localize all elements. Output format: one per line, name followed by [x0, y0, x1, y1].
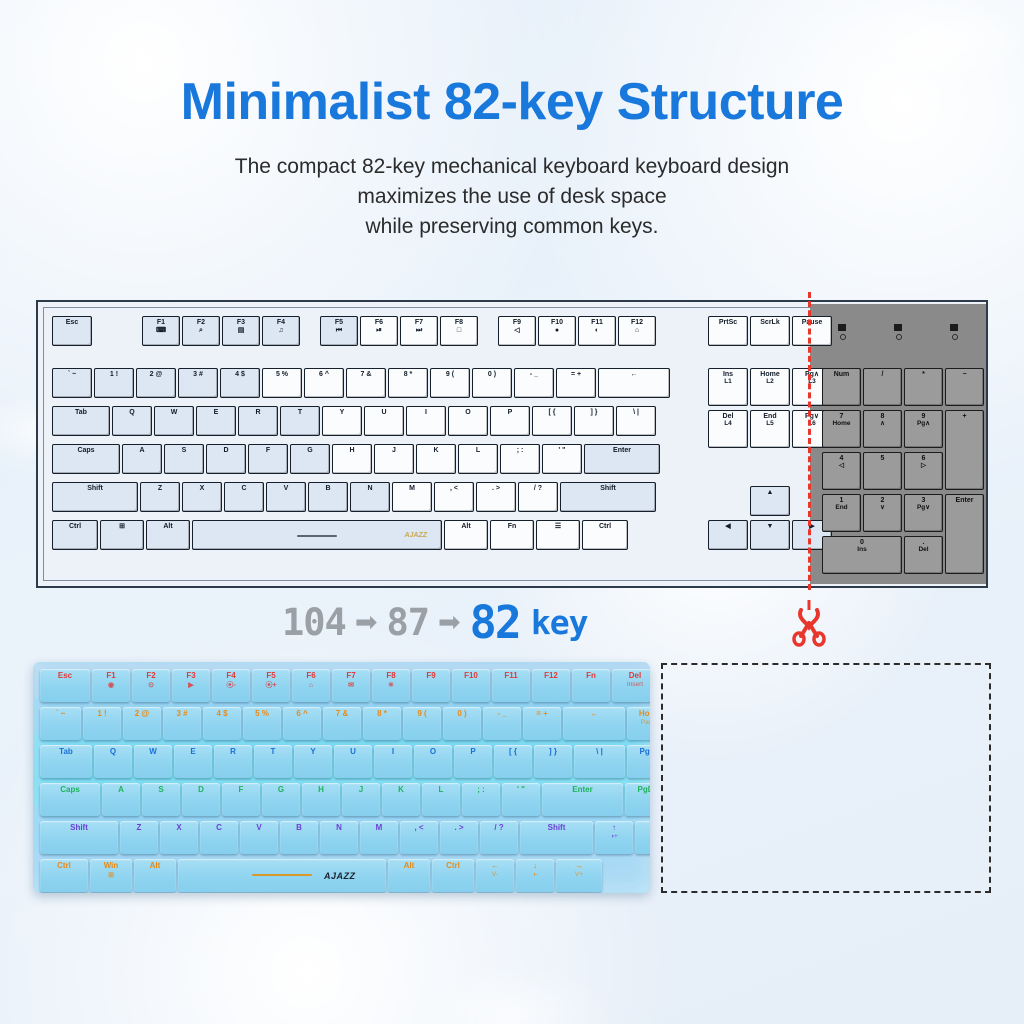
key-: ⊞ — [100, 520, 144, 550]
key-f: F — [248, 444, 288, 474]
key-2: 2∨ — [863, 494, 902, 532]
key-space: / ? — [480, 821, 518, 854]
key-g: G — [262, 783, 300, 816]
key-a: A — [122, 444, 162, 474]
key-s: S — [164, 444, 204, 474]
key-f4: F4♫ — [262, 316, 300, 346]
key-space: \ | — [574, 745, 625, 778]
key-: ' " — [542, 444, 582, 474]
key-2: 2 @ — [123, 707, 161, 740]
key-b: B — [308, 482, 348, 512]
key-space: - _ — [483, 707, 521, 740]
key-2: 2 @ — [136, 368, 176, 398]
key-fn: Fn — [490, 520, 534, 550]
key-q: Q — [94, 745, 132, 778]
key-q: Q — [112, 406, 152, 436]
key-enter: Enter — [542, 783, 623, 816]
key-f11: F11◐ — [578, 316, 616, 346]
key-t: T — [280, 406, 320, 436]
key-1: 1End — [822, 494, 861, 532]
key-8: 8 * — [363, 707, 401, 740]
key-j: J — [342, 783, 380, 816]
key-k: K — [416, 444, 456, 474]
key-0: 0Ins — [822, 536, 902, 574]
key-caps: Caps — [40, 783, 100, 816]
key-f8: F8□ — [440, 316, 478, 346]
key-space: ] } — [534, 745, 572, 778]
key-esc: Esc — [40, 669, 90, 702]
key-f12: F12⌂ — [618, 316, 656, 346]
key-v: V — [266, 482, 306, 512]
key-ctrl: Ctrl — [432, 859, 474, 892]
key-alt: Alt — [388, 859, 430, 892]
page-subtitle: The compact 82-key mechanical keyboard k… — [0, 152, 1024, 241]
key-r: R — [238, 406, 278, 436]
key-i: I — [406, 406, 446, 436]
key-home: HomeL2 — [750, 368, 790, 406]
key-ctrl: Ctrl — [52, 520, 98, 550]
key-: ; : — [500, 444, 540, 474]
scroll-lock-led — [950, 324, 958, 331]
key-alt: Alt — [444, 520, 488, 550]
key-: ` ~ — [52, 368, 92, 398]
key-: − — [945, 368, 984, 406]
key-tab: Tab — [52, 406, 110, 436]
key-4: 4◁ — [822, 452, 861, 490]
key-0: 0 ) — [472, 368, 512, 398]
subtitle-line-2: maximizes the use of desk space — [0, 182, 1024, 212]
key-x: X — [160, 821, 198, 854]
key-5: 5 % — [262, 368, 302, 398]
key-o: O — [414, 745, 452, 778]
key-n: N — [320, 821, 358, 854]
scissors-icon — [786, 596, 832, 648]
key-6: 6 ^ — [304, 368, 344, 398]
key-c: C — [224, 482, 264, 512]
key-: / — [863, 368, 902, 406]
key-7: 7Home — [822, 410, 861, 448]
arrow-2-icon: ➡ — [438, 609, 461, 636]
key-h: H — [332, 444, 372, 474]
blue-rgb-keyboard: EscF1◉F2⊙F3▶F4⦿-F5⦿+F6⌂F7✉F8☀F9F10F11F12… — [33, 662, 650, 893]
key-f7: F7✉ — [332, 669, 370, 702]
removed-numpad-placeholder — [661, 663, 991, 893]
arrow-1-icon: ➡ — [355, 609, 378, 636]
caps-lock-led — [894, 324, 902, 331]
cut-line — [808, 292, 811, 590]
key-del: DelL4 — [708, 410, 748, 448]
key-f11: F11 — [492, 669, 530, 702]
key-: .Del — [904, 536, 943, 574]
key-space: = + — [523, 707, 561, 740]
key-e: E — [196, 406, 236, 436]
key-enter: Enter — [945, 494, 984, 574]
key-shift: Shift — [40, 821, 118, 854]
key-k: K — [382, 783, 420, 816]
key-u: U — [364, 406, 404, 436]
key-f: F — [222, 783, 260, 816]
key-m: M — [392, 482, 432, 512]
key-scrlk: ScrLk — [750, 316, 790, 346]
key-t: T — [254, 745, 292, 778]
key-f6: F6⏯ — [360, 316, 398, 346]
key-u: U — [334, 745, 372, 778]
key-: , < — [434, 482, 474, 512]
key-: ] } — [574, 406, 614, 436]
key-3: 3Pg∨ — [904, 494, 943, 532]
key-caps: Caps — [52, 444, 120, 474]
key-ctrl: Ctrl — [582, 520, 628, 550]
key-l: L — [458, 444, 498, 474]
key-n: N — [350, 482, 390, 512]
key-: - _ — [514, 368, 554, 398]
key-o: O — [448, 406, 488, 436]
key-r: R — [214, 745, 252, 778]
key-prtsc: PrtSc — [708, 316, 748, 346]
key-: + — [945, 410, 984, 490]
key-d: D — [206, 444, 246, 474]
key-3: 3 # — [178, 368, 218, 398]
caps-lock-led-indicator — [896, 334, 902, 340]
key-count-sequence: 104 ➡ 87 ➡ 82 key — [282, 596, 587, 649]
key-space: ' " — [502, 783, 540, 816]
key-6: 6▷ — [904, 452, 943, 490]
key-f2: F2⌕ — [182, 316, 220, 346]
key-: ▲ — [750, 486, 790, 516]
key-f3: F3▤ — [222, 316, 260, 346]
key-f4: F4⦿- — [212, 669, 250, 702]
key-win: Win⊞ — [90, 859, 132, 892]
key-end: EndPrtsc — [635, 821, 650, 854]
key-: ◀ — [708, 520, 748, 550]
count-87: 87 — [386, 601, 429, 644]
key-5: 5 % — [243, 707, 281, 740]
key-i: I — [374, 745, 412, 778]
key-: \ | — [616, 406, 656, 436]
key-0: 0 ) — [443, 707, 481, 740]
key-1: 1 ! — [94, 368, 134, 398]
key-9: 9 ( — [430, 368, 470, 398]
key-space: ↓◑- — [516, 859, 554, 892]
key-g: G — [290, 444, 330, 474]
full-size-keyboard-diagram: EscF1⌨F2⌕F3▤F4♫F5⏮F6⏯F7⏭F8□F9◁F10●F11◐F1… — [36, 300, 988, 588]
key-ctrl: Ctrl — [40, 859, 88, 892]
key-: = + — [556, 368, 596, 398]
key-space: ; : — [462, 783, 500, 816]
key-f9: F9◁ — [498, 316, 536, 346]
key-space: ← — [563, 707, 625, 740]
key-f10: F10● — [538, 316, 576, 346]
key-home: HomePause — [627, 707, 650, 740]
key-4: 4 $ — [220, 368, 260, 398]
key-num: Num — [822, 368, 861, 406]
key-: / ? — [518, 482, 558, 512]
key-w: W — [134, 745, 172, 778]
key-y: Y — [322, 406, 362, 436]
key-pgdn: PgDn — [625, 783, 650, 816]
count-82-word: key — [531, 603, 588, 642]
key-space: ` ~ — [40, 707, 81, 740]
key-fn: Fn — [572, 669, 610, 702]
key-: ▼ — [750, 520, 790, 550]
key-9: 9Pg∧ — [904, 410, 943, 448]
key-a: A — [102, 783, 140, 816]
brand-logo: AJAZZ — [324, 871, 356, 881]
key-h: H — [302, 783, 340, 816]
key-space: . > — [440, 821, 478, 854]
key-7: 7 & — [323, 707, 361, 740]
key-w: W — [154, 406, 194, 436]
key-1: 1 ! — [83, 707, 121, 740]
num-lock-led-indicator — [840, 334, 846, 340]
key-6: 6 ^ — [283, 707, 321, 740]
key-space: ←V- — [476, 859, 514, 892]
key-: . > — [476, 482, 516, 512]
key-shift: Shift — [520, 821, 593, 854]
count-104: 104 — [282, 601, 346, 644]
key-space: AJAZZ — [192, 520, 442, 550]
subtitle-line-3: while preserving common keys. — [0, 212, 1024, 242]
key-f1: F1⌨ — [142, 316, 180, 346]
key-3: 3 # — [163, 707, 201, 740]
key-alt: Alt — [146, 520, 190, 550]
page-title: Minimalist 82-key Structure — [0, 72, 1024, 132]
key-f10: F10 — [452, 669, 490, 702]
key-f6: F6⌂ — [292, 669, 330, 702]
key-enter: Enter — [584, 444, 660, 474]
key-f12: F12 — [532, 669, 570, 702]
key-f7: F7⏭ — [400, 316, 438, 346]
key-f2: F2⊙ — [132, 669, 170, 702]
key-: ← — [598, 368, 670, 398]
key-esc: Esc — [52, 316, 92, 346]
key-space: , < — [400, 821, 438, 854]
key-v: V — [240, 821, 278, 854]
key-7: 7 & — [346, 368, 386, 398]
key-p: P — [454, 745, 492, 778]
key-count-banner: 104 ➡ 87 ➡ 82 key — [0, 596, 1024, 652]
key-shift: Shift — [52, 482, 138, 512]
key-e: E — [174, 745, 212, 778]
key-z: Z — [120, 821, 158, 854]
key-f3: F3▶ — [172, 669, 210, 702]
key-d: D — [182, 783, 220, 816]
key-j: J — [374, 444, 414, 474]
key-l: L — [422, 783, 460, 816]
key-end: EndL5 — [750, 410, 790, 448]
key-8: 8∧ — [863, 410, 902, 448]
key-5: 5 — [863, 452, 902, 490]
key-pgup: PgUp — [627, 745, 650, 778]
key-f5: F5⦿+ — [252, 669, 290, 702]
key-f9: F9 — [412, 669, 450, 702]
key-p: P — [490, 406, 530, 436]
key-f5: F5⏮ — [320, 316, 358, 346]
key-b: B — [280, 821, 318, 854]
key-y: Y — [294, 745, 332, 778]
key-z: Z — [140, 482, 180, 512]
key-space: [ { — [494, 745, 532, 778]
key-c: C — [200, 821, 238, 854]
key-8: 8 * — [388, 368, 428, 398]
key-f1: F1◉ — [92, 669, 130, 702]
key-s: S — [142, 783, 180, 816]
spacebar-accent-bar — [252, 874, 312, 876]
key-: * — [904, 368, 943, 406]
key-m: M — [360, 821, 398, 854]
num-lock-led — [838, 324, 846, 331]
key-9: 9 ( — [403, 707, 441, 740]
subtitle-line-1: The compact 82-key mechanical keyboard k… — [0, 152, 1024, 182]
key-pause: Pause — [792, 316, 832, 346]
key-f8: F8☀ — [372, 669, 410, 702]
key-space: ↑◑+ — [595, 821, 633, 854]
key-4: 4 $ — [203, 707, 241, 740]
scroll-lock-led-indicator — [952, 334, 958, 340]
key-space: →V+ — [556, 859, 602, 892]
key-alt: Alt — [134, 859, 176, 892]
key-ins: InsL1 — [708, 368, 748, 406]
key-del: DelInsert — [612, 669, 650, 702]
key-shift: Shift — [560, 482, 656, 512]
key-tab: Tab — [40, 745, 92, 778]
count-82: 82 — [470, 596, 520, 649]
key-: ☰ — [536, 520, 580, 550]
key-x: X — [182, 482, 222, 512]
key-: [ { — [532, 406, 572, 436]
